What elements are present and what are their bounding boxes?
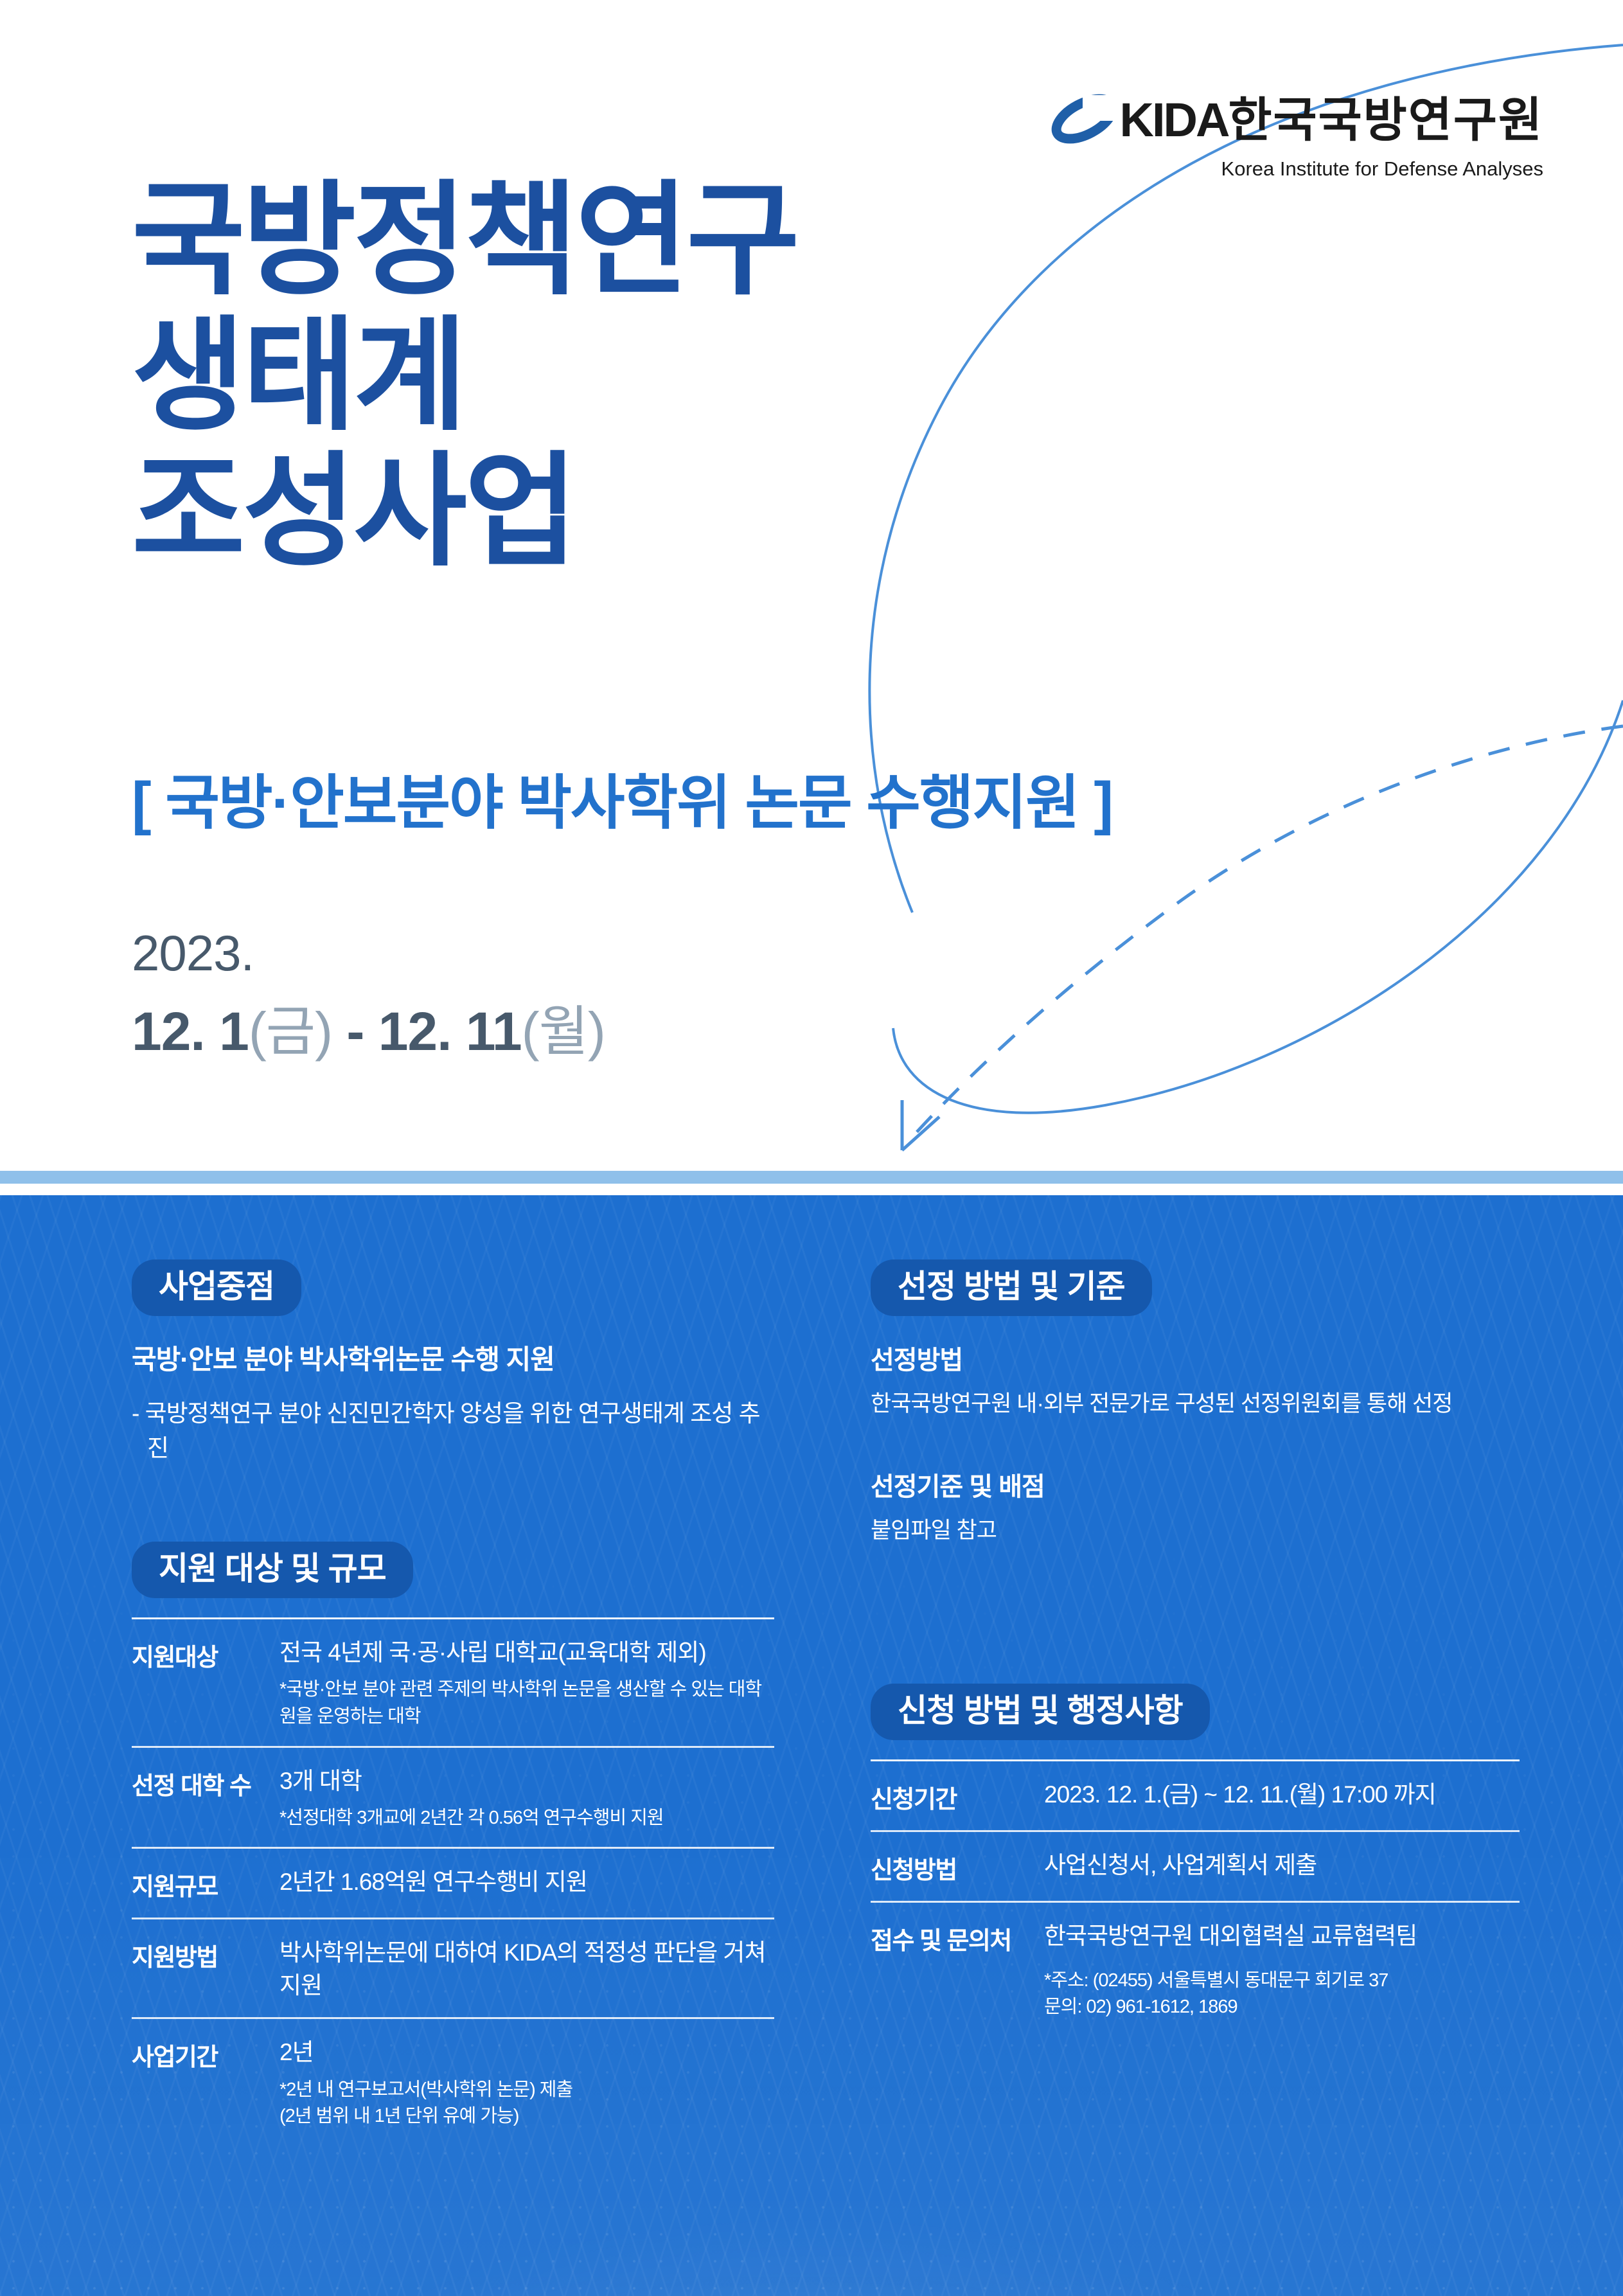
details-section: 사업중점 국방·안보 분야 박사학위논문 수행 지원 - 국방정책연구 분야 신…	[0, 1195, 1623, 2296]
selection-method-heading: 선정방법	[871, 1339, 1520, 1376]
title-line-3: 조성사업	[132, 443, 797, 579]
row-value-note: *국방·안보 분야 관련 주제의 박사학위 논문을 생산할 수 있는 대학원을 …	[279, 1677, 774, 1731]
row-label: 신청방법	[871, 1849, 1044, 1885]
row-value: 한국국방연구원 대외협력실 교류협력팀 *주소: (02455) 서울특별시 동…	[1044, 1919, 1520, 2022]
application-block: 신청 방법 및 행정사항 신청기간 2023. 12. 1.(금) ~ 12. …	[871, 1684, 1520, 2037]
row-value-main: 3개 대학	[279, 1765, 774, 1797]
table-row: 접수 및 문의처 한국국방연구원 대외협력실 교류협력팀 *주소: (02455…	[871, 1901, 1520, 2037]
row-value: 2023. 12. 1.(금) ~ 12. 11.(월) 17:00 까지	[1044, 1778, 1520, 1811]
row-value-main: 2023. 12. 1.(금) ~ 12. 11.(월) 17:00 까지	[1044, 1778, 1520, 1811]
application-badge: 신청 방법 및 행정사항	[871, 1684, 1210, 1740]
table-row: 지원대상 전국 4년제 국·공·사립 대학교(교육대학 제외) *국방·안보 분…	[132, 1617, 774, 1746]
focus-block: 사업중점 국방·안보 분야 박사학위논문 수행 지원 - 국방정책연구 분야 신…	[132, 1259, 774, 1466]
application-rows: 신청기간 2023. 12. 1.(금) ~ 12. 11.(월) 17:00 …	[871, 1759, 1520, 2037]
table-row: 사업기간 2년 *2년 내 연구보고서(박사학위 논문) 제출 (2년 범위 내…	[132, 2017, 774, 2146]
row-value: 사업신청서, 사업계획서 제출	[1044, 1849, 1520, 1882]
title-line-2: 생태계	[132, 308, 797, 443]
row-value-main: 2년간 1.68억원 연구수행비 지원	[279, 1865, 774, 1898]
row-value-main: 2년	[279, 2036, 774, 2069]
date-start: 12. 1	[132, 1001, 249, 1062]
row-value-note: *2년 내 연구보고서(박사학위 논문) 제출 (2년 범위 내 1년 단위 유…	[279, 2077, 774, 2131]
table-row: 신청기간 2023. 12. 1.(금) ~ 12. 11.(월) 17:00 …	[871, 1759, 1520, 1830]
row-value: 전국 4년제 국·공·사립 대학교(교육대학 제외) *국방·안보 분야 관련 …	[279, 1636, 774, 1731]
focus-bullet: - 국방정책연구 분야 신진민간학자 양성을 위한 연구생태계 조성 추진	[132, 1396, 774, 1466]
date-separator: -	[332, 1001, 378, 1062]
selection-method-body: 한국국방연구원 내·외부 전문가로 구성된 선정위원회를 통해 선정	[871, 1388, 1520, 1421]
row-label: 지원규모	[132, 1865, 279, 1902]
hero-section: KIDA 한국국방연구원 Korea Institute for Defense…	[0, 0, 1623, 1171]
right-column: 선정 방법 및 기준 선정방법 한국국방연구원 내·외부 전문가로 구성된 선정…	[871, 1259, 1520, 2036]
title-line-1: 국방정책연구	[132, 172, 797, 308]
focus-lead: 국방·안보 분야 박사학위논문 수행 지원	[132, 1338, 774, 1377]
event-year: 2023.	[132, 924, 254, 983]
row-value: 2년 *2년 내 연구보고서(박사학위 논문) 제출 (2년 범위 내 1년 단…	[279, 2036, 774, 2130]
page-subtitle: [ 국방·안보분야 박사학위 논문 수행지원 ]	[132, 755, 1112, 841]
date-start-weekday: (금)	[249, 1001, 332, 1062]
selection-block: 선정 방법 및 기준 선정방법 한국국방연구원 내·외부 전문가로 구성된 선정…	[871, 1259, 1520, 1547]
eligibility-block: 지원 대상 및 규모 지원대상 전국 4년제 국·공·사립 대학교(교육대학 제…	[132, 1542, 774, 2146]
kida-logo: KIDA 한국국방연구원 Korea Institute for Defense…	[1049, 90, 1543, 181]
accent-stripe	[0, 1171, 1623, 1184]
date-end: 12. 11	[378, 1001, 522, 1062]
row-value-main: 전국 4년제 국·공·사립 대학교(교육대학 제외)	[279, 1636, 774, 1669]
row-value-main: 사업신청서, 사업계획서 제출	[1044, 1849, 1520, 1882]
row-value-main: 한국국방연구원 대외협력실 교류협력팀	[1044, 1919, 1520, 1952]
table-row: 신청방법 사업신청서, 사업계획서 제출	[871, 1830, 1520, 1901]
row-value: 박사학위논문에 대하여 KIDA의 적정성 판단을 거쳐 지원	[279, 1936, 774, 2002]
table-row: 지원방법 박사학위논문에 대하여 KIDA의 적정성 판단을 거쳐 지원	[132, 1918, 774, 2017]
row-value-note: *주소: (02455) 서울특별시 동대문구 회기로 37 문의: 02) 9…	[1044, 1968, 1520, 2022]
left-column: 사업중점 국방·안보 분야 박사학위논문 수행 지원 - 국방정책연구 분야 신…	[132, 1259, 774, 2146]
eligibility-rows: 지원대상 전국 4년제 국·공·사립 대학교(교육대학 제외) *국방·안보 분…	[132, 1617, 774, 2146]
row-label: 접수 및 문의처	[871, 1919, 1044, 1956]
row-label: 선정 대학 수	[132, 1765, 279, 1801]
selection-badge: 선정 방법 및 기준	[871, 1259, 1152, 1316]
eligibility-badge: 지원 대상 및 규모	[132, 1542, 413, 1598]
logo-korean-name: 한국국방연구원	[1228, 98, 1543, 143]
logo-english-name: Korea Institute for Defense Analyses	[1049, 157, 1543, 181]
kida-swoosh-icon	[1049, 90, 1120, 151]
logo-acronym: KIDA	[1120, 98, 1228, 143]
date-end-weekday: (월)	[522, 1001, 605, 1062]
row-value-main: 박사학위논문에 대하여 KIDA의 적정성 판단을 거쳐 지원	[279, 1936, 774, 2002]
table-row: 선정 대학 수 3개 대학 *선정대학 3개교에 2년간 각 0.56억 연구수…	[132, 1746, 774, 1847]
row-label: 지원대상	[132, 1636, 279, 1673]
row-label: 지원방법	[132, 1936, 279, 1973]
page-title: 국방정책연구 생태계 조성사업	[132, 172, 797, 580]
selection-criteria-heading: 선정기준 및 배점	[871, 1466, 1520, 1503]
focus-badge: 사업중점	[132, 1259, 301, 1316]
row-value: 3개 대학 *선정대학 3개교에 2년간 각 0.56억 연구수행비 지원	[279, 1765, 774, 1832]
row-value-note: *선정대학 3개교에 2년간 각 0.56억 연구수행비 지원	[279, 1805, 774, 1832]
selection-criteria-body: 붙임파일 참고	[871, 1515, 1520, 1547]
row-value: 2년간 1.68억원 연구수행비 지원	[279, 1865, 774, 1898]
table-row: 지원규모 2년간 1.68억원 연구수행비 지원	[132, 1847, 774, 1918]
poster-root: KIDA 한국국방연구원 Korea Institute for Defense…	[0, 0, 1623, 2296]
row-label: 사업기간	[132, 2036, 279, 2072]
event-date-range: 12. 1(금) - 12. 11(월)	[132, 988, 605, 1066]
row-label: 신청기간	[871, 1778, 1044, 1815]
